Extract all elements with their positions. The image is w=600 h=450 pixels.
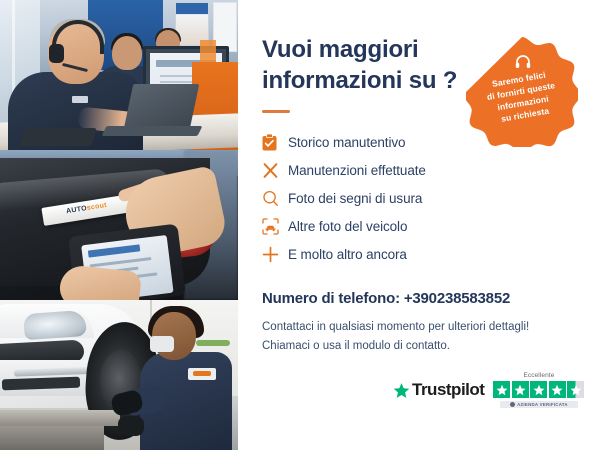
- promo-card: AUTOscout: [0, 0, 600, 450]
- plus-icon: [262, 243, 288, 265]
- feature-label: Manutenzioni effettuate: [288, 163, 426, 178]
- trustpilot-star-icon: [393, 382, 410, 399]
- verified-check-icon: [510, 402, 515, 407]
- feature-item-molto-altro: E molto altro ancora: [262, 240, 562, 268]
- mechanic-wheel-service-photo: [0, 300, 238, 450]
- content-panel: Vuoi maggiori informazioni su ? Saremo f…: [238, 0, 600, 450]
- scan-car-icon: [262, 215, 288, 237]
- vehicle-inspection-tablet-photo: AUTOscout: [0, 150, 238, 300]
- page-title: Vuoi maggiori informazioni su ?: [262, 35, 482, 96]
- contact-body-line2: Chiamaci o usa il modulo di contatto.: [262, 337, 562, 356]
- feature-label: Storico manutentivo: [288, 135, 405, 150]
- title-divider: [262, 110, 290, 113]
- wrench-cross-icon: [262, 159, 288, 181]
- feature-item-storico-manutentivo: Storico manutentivo: [262, 128, 562, 156]
- trustpilot-stars: [493, 381, 584, 398]
- verified-business-badge: AZIENDA VERIFICATA: [500, 401, 578, 408]
- star-filled: [493, 381, 510, 398]
- feature-label: Altre foto del veicolo: [288, 219, 407, 234]
- headset-icon: [514, 53, 532, 71]
- trustpilot-rating-widget[interactable]: Trustpilot Eccellente: [393, 372, 584, 408]
- feature-item-foto-segni-usura: Foto dei segni di usura: [262, 184, 562, 212]
- star-filled: [549, 381, 566, 398]
- clipboard-check-icon: [262, 131, 288, 153]
- contact-body-line1: Contattaci in qualsiasi momento per ulte…: [262, 318, 562, 337]
- phone-number-label: Numero di telefono: +390238583852: [262, 290, 510, 307]
- feature-item-manutenzioni-effettuate: Manutenzioni effettuate: [262, 156, 562, 184]
- page-title-line1: Vuoi maggiori: [262, 35, 482, 66]
- trustpilot-rating-label: Eccellente: [523, 372, 554, 379]
- trustpilot-wordmark: Trustpilot: [412, 380, 484, 400]
- contact-body-text: Contattaci in qualsiasi momento per ulte…: [262, 318, 562, 356]
- call-center-agents-photo: [0, 0, 238, 150]
- trustpilot-logo: Trustpilot: [393, 380, 484, 400]
- verified-business-text: AZIENDA VERIFICATA: [517, 402, 568, 407]
- star-filled: [512, 381, 529, 398]
- magnifier-icon: [262, 187, 288, 209]
- trustpilot-score: Eccellente: [493, 372, 584, 408]
- star-filled: [530, 381, 547, 398]
- feature-label: Foto dei segni di usura: [288, 191, 422, 206]
- star-half: [567, 381, 584, 398]
- feature-list: Storico manutentivo Manutenzioni effettu…: [262, 128, 562, 268]
- feature-label: E molto altro ancora: [288, 247, 407, 262]
- page-title-line2: informazioni su ?: [262, 66, 482, 97]
- photo-column: AUTOscout: [0, 0, 238, 450]
- feature-item-altre-foto-veicolo: Altre foto del veicolo: [262, 212, 562, 240]
